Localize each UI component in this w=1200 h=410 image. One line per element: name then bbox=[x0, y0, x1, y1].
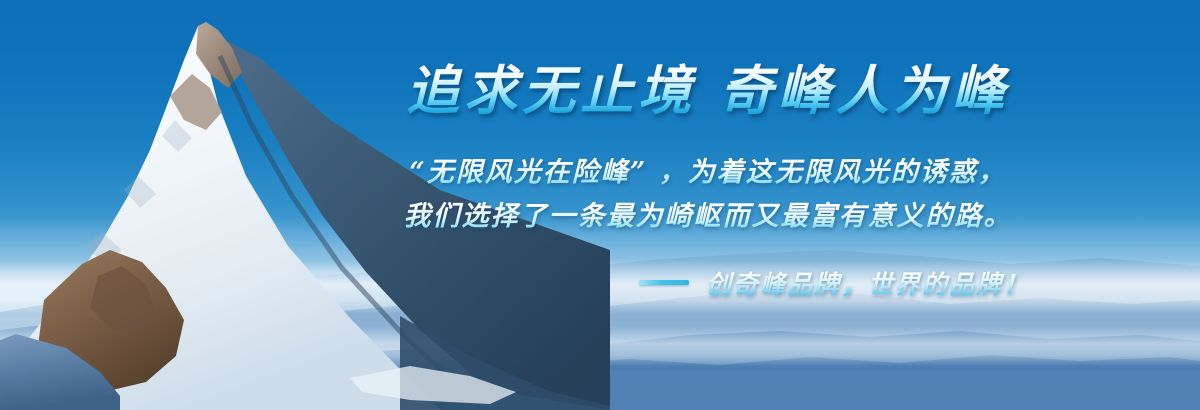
subtitle-line-1: “无限风光在险峰” ，为着这无限风光的诱惑， bbox=[378, 151, 1038, 195]
page-title: 追求无止境 奇峰人为峰 bbox=[378, 62, 1038, 121]
em-dash-rule bbox=[639, 280, 689, 285]
tagline-row: 创奇峰品牌，世界的品牌！ bbox=[378, 265, 1038, 301]
hero-banner: 追求无止境 奇峰人为峰 “无限风光在险峰” ，为着这无限风光的诱惑， 我们选择了… bbox=[0, 0, 1200, 410]
subtitle-line-2: 我们选择了一条最为崎岖而又最富有意义的路。 bbox=[378, 195, 1038, 239]
tagline-text: 创奇峰品牌，世界的品牌！ bbox=[706, 265, 1030, 301]
subtitle-block: “无限风光在险峰” ，为着这无限风光的诱惑， 我们选择了一条最为崎岖而又最富有意… bbox=[378, 151, 1038, 238]
banner-copy: 追求无止境 奇峰人为峰 “无限风光在险峰” ，为着这无限风光的诱惑， 我们选择了… bbox=[378, 62, 1038, 301]
